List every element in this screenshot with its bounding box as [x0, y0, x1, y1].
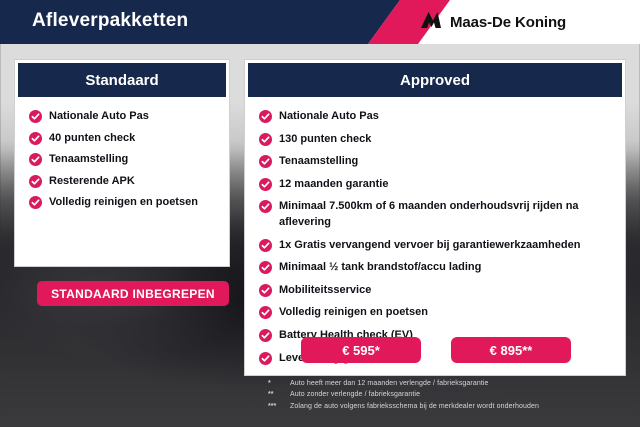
feature-label: Volledig reinigen en poetsen: [49, 195, 198, 211]
price-button-895[interactable]: € 895**: [451, 337, 571, 363]
check-circle-icon: [259, 178, 272, 191]
brand-name: Maas-De Koning: [450, 14, 566, 31]
standard-package-card: Standaard Nationale Auto Pas: [14, 59, 230, 267]
footnote-marker: ***: [268, 403, 290, 410]
page-title: Afleverpakketten: [32, 10, 188, 32]
list-item: Nationale Auto Pas: [259, 109, 625, 125]
feature-label: 40 punten check: [49, 131, 135, 147]
list-item: 12 maanden garantie: [259, 177, 625, 193]
list-item: 130 punten check: [259, 132, 625, 148]
list-item: Minimaal ½ tank brandstof/accu lading: [259, 260, 625, 276]
check-circle-icon: [29, 196, 42, 209]
feature-label: Tenaamstelling: [279, 154, 358, 170]
list-item: Tenaamstelling: [259, 154, 625, 170]
standard-included-button[interactable]: STANDAARD INBEGREPEN: [37, 281, 229, 306]
footnote-text: Auto heeft meer dan 12 maanden verlengde…: [290, 379, 489, 388]
standard-feature-list: Nationale Auto Pas 40 punten check: [29, 97, 229, 211]
footnotes: * Auto heeft meer dan 12 maanden verleng…: [268, 379, 628, 413]
feature-label: Volledig reinigen en poetsen: [279, 305, 428, 321]
list-item: 1x Gratis vervangend vervoer bij garanti…: [259, 238, 625, 254]
list-item: Minimaal 7.500km of 6 maanden onderhouds…: [259, 199, 625, 230]
feature-label: 130 punten check: [279, 132, 371, 148]
price-button-row: € 595* € 895**: [245, 337, 627, 363]
feature-label: 12 maanden garantie: [279, 177, 388, 193]
footnote-marker: *: [268, 380, 290, 387]
check-circle-icon: [259, 200, 272, 213]
check-circle-icon: [29, 132, 42, 145]
check-circle-icon: [29, 175, 42, 188]
footnote-marker: **: [268, 391, 290, 398]
feature-label: Minimaal 7.500km of 6 maanden onderhouds…: [279, 199, 625, 230]
list-item: Volledig reinigen en poetsen: [29, 195, 229, 211]
feature-label: Nationale Auto Pas: [49, 109, 149, 125]
feature-label: Resterende APK: [49, 174, 135, 190]
price-button-595[interactable]: € 595*: [301, 337, 421, 363]
approved-feature-list: Nationale Auto Pas 130 punten check: [259, 97, 625, 366]
approved-package-card: Approved Nationale Auto Pas: [244, 59, 626, 376]
feature-label: Nationale Auto Pas: [279, 109, 379, 125]
standard-card-header: Standaard: [18, 63, 226, 97]
feature-label: 1x Gratis vervangend vervoer bij garanti…: [279, 238, 580, 254]
check-circle-icon: [259, 155, 272, 168]
maas-de-koning-logo-mark-icon: [420, 11, 442, 34]
approved-card-title: Approved: [400, 72, 470, 89]
check-circle-icon: [259, 306, 272, 319]
footnote-item: ** Auto zonder verlengde / fabrieksgaran…: [268, 390, 628, 399]
promo-screen: Afleverpakketten Maas-De Koning Standaar…: [0, 0, 640, 427]
check-circle-icon: [29, 153, 42, 166]
list-item: Tenaamstelling: [29, 152, 229, 168]
check-circle-icon: [259, 239, 272, 252]
footnote-item: * Auto heeft meer dan 12 maanden verleng…: [268, 379, 628, 388]
feature-label: Minimaal ½ tank brandstof/accu lading: [279, 260, 481, 276]
footnote-text: Zolang de auto volgens fabrieksschema bi…: [290, 402, 539, 411]
approved-card-header: Approved: [248, 63, 622, 97]
list-item: Nationale Auto Pas: [29, 109, 229, 125]
check-circle-icon: [259, 261, 272, 274]
brand-logo: Maas-De Koning: [420, 11, 566, 34]
page-banner: Afleverpakketten Maas-De Koning: [0, 0, 640, 44]
list-item: 40 punten check: [29, 131, 229, 147]
list-item: Mobiliteitsservice: [259, 283, 625, 299]
feature-label: Mobiliteitsservice: [279, 283, 371, 299]
list-item: Resterende APK: [29, 174, 229, 190]
list-item: Volledig reinigen en poetsen: [259, 305, 625, 321]
feature-label: Tenaamstelling: [49, 152, 128, 168]
check-circle-icon: [259, 110, 272, 123]
check-circle-icon: [29, 110, 42, 123]
footnote-text: Auto zonder verlengde / fabrieksgarantie: [290, 390, 420, 399]
check-circle-icon: [259, 284, 272, 297]
check-circle-icon: [259, 133, 272, 146]
footnote-item: *** Zolang de auto volgens fabrieksschem…: [268, 402, 628, 411]
standard-card-title: Standaard: [85, 72, 158, 89]
